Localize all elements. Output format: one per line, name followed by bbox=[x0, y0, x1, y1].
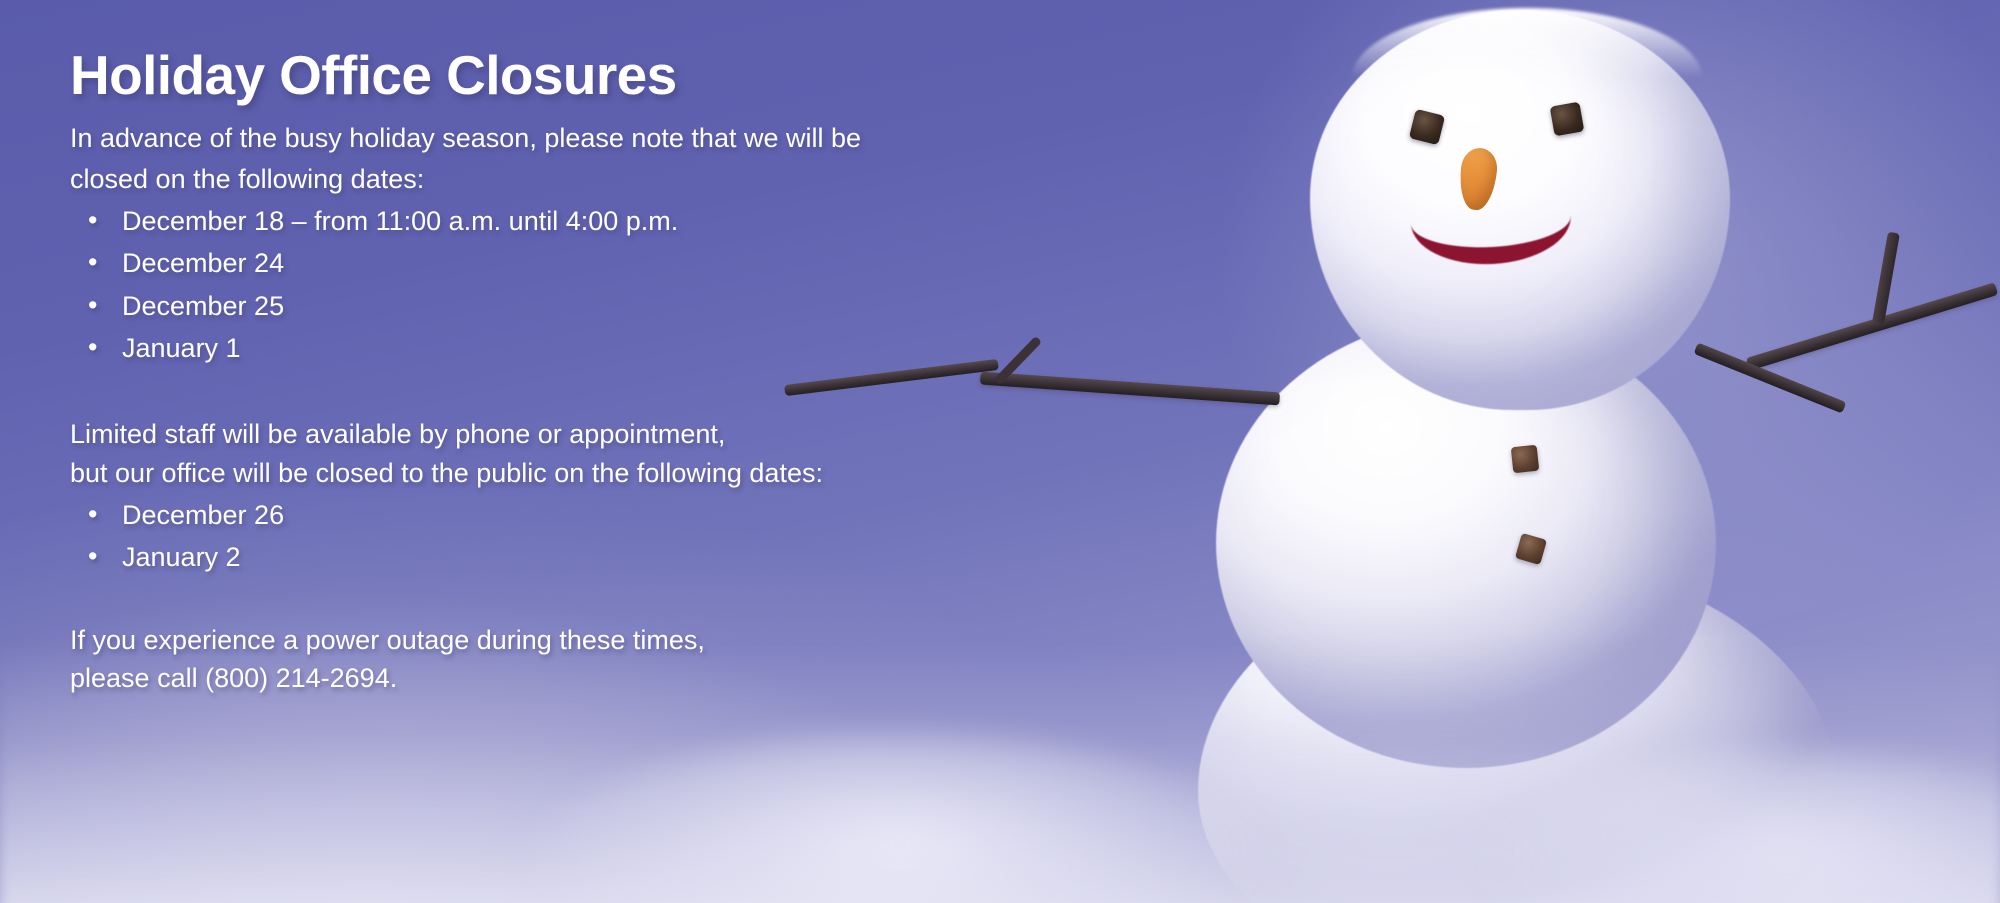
snowman-button-middle bbox=[1511, 445, 1540, 474]
twig-arm-left-fork bbox=[994, 336, 1042, 385]
list-item: December 18 – from 11:00 a.m. until 4:00… bbox=[70, 202, 970, 240]
list-item: January 1 bbox=[70, 329, 970, 367]
page-title: Holiday Office Closures bbox=[70, 46, 970, 105]
snow-drift-right bbox=[1480, 753, 2000, 903]
intro-paragraph-line-1: In advance of the busy holiday season, p… bbox=[70, 119, 970, 157]
snow-drift-left bbox=[520, 733, 1280, 903]
carrot-nose-icon bbox=[1457, 146, 1499, 211]
twig-arm-right-lower bbox=[1694, 342, 1847, 413]
banner-text-column: Holiday Office Closures In advance of th… bbox=[70, 46, 970, 697]
snowman-smile bbox=[1411, 214, 1573, 268]
closure-dates-list-secondary: December 26 January 2 bbox=[70, 496, 970, 577]
snowman-button-bottom bbox=[1515, 533, 1547, 565]
power-outage-paragraph-line-1: If you experience a power outage during … bbox=[70, 621, 970, 659]
spacer bbox=[70, 581, 970, 621]
closure-dates-list-primary: December 18 – from 11:00 a.m. until 4:00… bbox=[70, 202, 970, 367]
list-item: December 25 bbox=[70, 287, 970, 325]
snowman-eye-left bbox=[1409, 109, 1445, 145]
spacer bbox=[70, 371, 970, 415]
snowman-middle-ball bbox=[1216, 318, 1716, 768]
limited-staff-paragraph-line-1: Limited staff will be available by phone… bbox=[70, 415, 970, 453]
sky-glow bbox=[1180, 0, 2000, 640]
snowman-head bbox=[1310, 10, 1730, 410]
snowman-button-top bbox=[1508, 354, 1538, 384]
snowman-eye-right bbox=[1550, 102, 1585, 137]
twig-arm-left bbox=[980, 372, 1280, 406]
list-item: December 26 bbox=[70, 496, 970, 534]
power-outage-phone-line: please call (800) 214-2694. bbox=[70, 659, 970, 697]
twig-arm-right-fork bbox=[1872, 232, 1900, 325]
snowman-base-ball bbox=[1198, 560, 1838, 903]
list-item: December 24 bbox=[70, 244, 970, 282]
twig-arm-right bbox=[1746, 282, 1998, 370]
list-item: January 2 bbox=[70, 538, 970, 576]
limited-staff-paragraph-line-2: but our office will be closed to the pub… bbox=[70, 454, 970, 492]
intro-paragraph-line-2: closed on the following dates: bbox=[70, 160, 970, 198]
snowman-head-highlight bbox=[1352, 8, 1702, 78]
holiday-closure-banner: Holiday Office Closures In advance of th… bbox=[0, 0, 2000, 903]
